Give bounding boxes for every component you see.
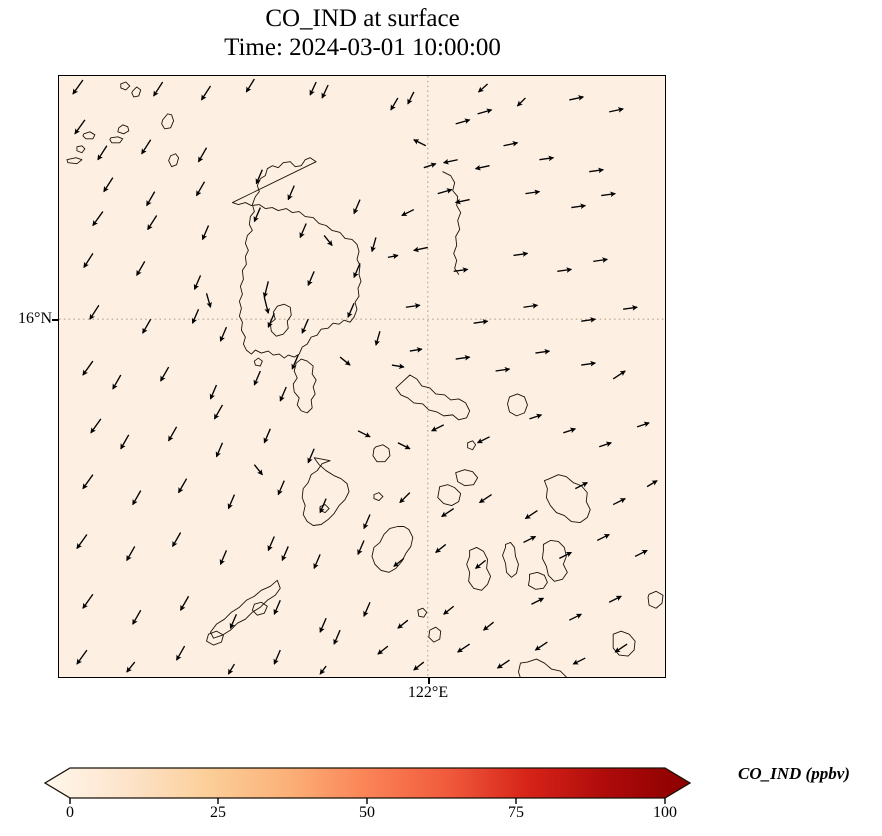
coastline-catanduanes [508, 394, 528, 416]
island-small [118, 125, 129, 134]
y-tick-label: 16°N [18, 310, 52, 328]
island-small [67, 158, 82, 164]
coastline-leyte [542, 540, 567, 581]
colorbar-tick-0: 0 [66, 804, 74, 822]
island-small [121, 82, 130, 90]
coastline-samar [544, 475, 590, 523]
coastline-palawan [211, 580, 281, 638]
figure-canvas: CO_IND at surface Time: 2024-03-01 10:00… [0, 0, 882, 836]
page-title: CO_IND at surface Time: 2024-03-01 10:00… [0, 4, 725, 62]
colorbar-tick-100: 100 [653, 804, 677, 822]
island-small [169, 154, 179, 167]
colorbar-tick-75: 75 [508, 804, 524, 822]
island-small [418, 608, 427, 617]
coastline-bohol [528, 572, 547, 589]
coastline-bicol [396, 375, 470, 420]
colorbar-label: CO_IND (ppbv) [738, 764, 850, 784]
coastline-mindanao-ne [613, 631, 635, 656]
island-small [429, 627, 441, 642]
coastline-mindanao [518, 659, 585, 677]
map-plot-area[interactable] [58, 75, 666, 678]
island-small [110, 137, 123, 143]
coastlines [67, 82, 665, 677]
y-tick-mark [52, 319, 58, 321]
coastline-panay [372, 527, 413, 573]
island-dinagat [648, 591, 663, 608]
x-tick-label: 122°E [408, 684, 448, 702]
island-small [374, 493, 383, 501]
island-small [254, 358, 262, 366]
quiver-wind-vectors [73, 79, 657, 674]
island-small [77, 146, 85, 153]
island-small [468, 441, 476, 450]
coastline-masbate [438, 485, 461, 506]
colorbar-gradient-bar[interactable] [45, 768, 690, 798]
map-graphics [59, 76, 665, 677]
colorbar-tick-labels: 0 25 50 75 100 [0, 804, 882, 834]
island-small [162, 114, 174, 129]
title-variable-line: CO_IND at surface [0, 4, 725, 33]
coastline-cebu [503, 542, 519, 577]
colorbar-tick-25: 25 [210, 804, 226, 822]
coastline-mindoro [302, 458, 349, 526]
coastline-lingayen [270, 304, 291, 336]
coastline-bataan [293, 359, 316, 413]
coastline-masbate-n [456, 470, 478, 486]
colorbar-tick-50: 50 [359, 804, 375, 822]
coastline-marinduque [373, 445, 390, 462]
island-small [132, 87, 141, 97]
island-small [83, 132, 95, 139]
coastline-negros [467, 547, 491, 590]
island-busuanga [207, 631, 224, 645]
island-small [252, 602, 267, 615]
coastline-luzon [232, 158, 361, 358]
colorbar[interactable]: 0 25 50 75 100 CO_IND (ppbv) [0, 752, 882, 836]
gridlines [59, 76, 665, 677]
title-time-line: Time: 2024-03-01 10:00:00 [0, 33, 725, 62]
coastline-luzon-east [443, 172, 461, 275]
